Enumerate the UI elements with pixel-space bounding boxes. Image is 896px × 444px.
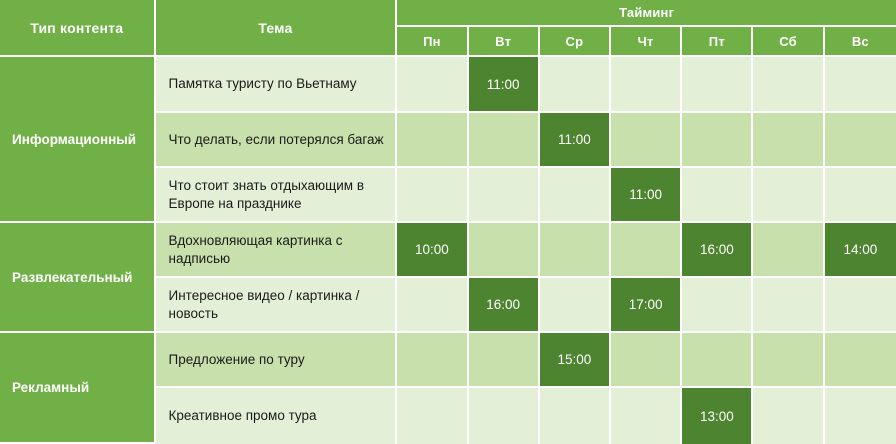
schedule-slot-filled[interactable]: 11:00: [611, 168, 682, 223]
column-header-day-fri: Пт: [682, 27, 753, 57]
table-body: ИнформационныйПамятка туристу по Вьетнам…: [0, 57, 896, 444]
topic-cell: Что стоит знать отдыхающим в Европе на п…: [156, 168, 398, 223]
category-cell-2: Развлекательный: [0, 223, 156, 333]
schedule-slot-empty[interactable]: [611, 388, 682, 444]
schedule-slot-filled[interactable]: 10:00: [397, 223, 468, 278]
schedule-slot-empty[interactable]: [469, 333, 540, 388]
schedule-slot-filled[interactable]: 17:00: [611, 278, 682, 333]
schedule-slot-filled[interactable]: 16:00: [469, 278, 540, 333]
schedule-slot-empty[interactable]: [611, 113, 682, 168]
schedule-slot-empty[interactable]: [469, 388, 540, 444]
table-row: РазвлекательныйВдохновляющая картинка с …: [0, 223, 896, 278]
column-header-timing: Тайминг: [397, 0, 896, 27]
schedule-slot-filled[interactable]: 11:00: [469, 57, 540, 113]
schedule-slot-filled[interactable]: 15:00: [540, 333, 611, 388]
table-row: РекламныйПредложение по туру15:00: [0, 333, 896, 388]
schedule-slot-empty[interactable]: [753, 333, 824, 388]
column-header-day-mon: Пн: [397, 27, 468, 57]
schedule-slot-filled[interactable]: 16:00: [682, 223, 753, 278]
category-cell-1: Информационный: [0, 57, 156, 223]
column-header-day-sat: Сб: [753, 27, 824, 57]
table-header: Тип контента Тема Тайминг Пн Вт Ср Чт Пт…: [0, 0, 896, 57]
schedule-slot-empty[interactable]: [469, 223, 540, 278]
schedule-slot-empty[interactable]: [753, 113, 824, 168]
topic-cell: Вдохновляющая картинка с надписью: [156, 223, 398, 278]
schedule-slot-empty[interactable]: [540, 278, 611, 333]
schedule-slot-filled[interactable]: 13:00: [682, 388, 753, 444]
schedule-slot-empty[interactable]: [825, 388, 896, 444]
schedule-slot-empty[interactable]: [397, 113, 468, 168]
schedule-slot-empty[interactable]: [825, 113, 896, 168]
schedule-slot-empty[interactable]: [397, 168, 468, 223]
schedule-slot-empty[interactable]: [540, 57, 611, 113]
column-header-content-type: Тип контента: [0, 0, 156, 57]
topic-cell: Памятка туристу по Вьетнаму: [156, 57, 398, 113]
schedule-slot-filled[interactable]: 11:00: [540, 113, 611, 168]
topic-cell: Предложение по туру: [156, 333, 398, 388]
schedule-slot-empty[interactable]: [825, 333, 896, 388]
schedule-slot-empty[interactable]: [825, 57, 896, 113]
schedule-slot-empty[interactable]: [397, 333, 468, 388]
topic-cell: Что делать, если потерялся багаж: [156, 113, 398, 168]
column-header-day-tue: Вт: [469, 27, 540, 57]
column-header-day-thu: Чт: [611, 27, 682, 57]
schedule-slot-empty[interactable]: [682, 57, 753, 113]
schedule-slot-empty[interactable]: [611, 223, 682, 278]
schedule-slot-empty[interactable]: [825, 278, 896, 333]
schedule-slot-empty[interactable]: [682, 168, 753, 223]
schedule-slot-empty[interactable]: [540, 223, 611, 278]
category-cell-3: Рекламный: [0, 333, 156, 444]
column-header-day-sun: Вс: [825, 27, 896, 57]
schedule-slot-empty[interactable]: [540, 388, 611, 444]
schedule-slot-empty[interactable]: [825, 168, 896, 223]
schedule-slot-empty[interactable]: [682, 113, 753, 168]
schedule-slot-empty[interactable]: [753, 168, 824, 223]
column-header-day-wed: Ср: [540, 27, 611, 57]
schedule-slot-empty[interactable]: [753, 223, 824, 278]
header-row-top: Тип контента Тема Тайминг: [0, 0, 896, 27]
schedule-slot-empty[interactable]: [753, 57, 824, 113]
content-schedule-table: Тип контента Тема Тайминг Пн Вт Ср Чт Пт…: [0, 0, 896, 444]
schedule-slot-empty[interactable]: [753, 278, 824, 333]
topic-cell: Интересное видео / картинка / новость: [156, 278, 398, 333]
schedule-slot-empty[interactable]: [469, 168, 540, 223]
schedule-slot-empty[interactable]: [397, 388, 468, 444]
schedule-slot-empty[interactable]: [753, 388, 824, 444]
schedule-slot-empty[interactable]: [469, 113, 540, 168]
schedule-slot-filled[interactable]: 14:00: [825, 223, 896, 278]
schedule-slot-empty[interactable]: [397, 57, 468, 113]
schedule-slot-empty[interactable]: [611, 333, 682, 388]
schedule-slot-empty[interactable]: [611, 57, 682, 113]
table-row: ИнформационныйПамятка туристу по Вьетнам…: [0, 57, 896, 113]
schedule-slot-empty[interactable]: [540, 168, 611, 223]
schedule-slot-empty[interactable]: [682, 278, 753, 333]
schedule-slot-empty[interactable]: [682, 333, 753, 388]
column-header-topic: Тема: [156, 0, 398, 57]
schedule-slot-empty[interactable]: [397, 278, 468, 333]
topic-cell: Креативное промо тура: [156, 388, 398, 444]
